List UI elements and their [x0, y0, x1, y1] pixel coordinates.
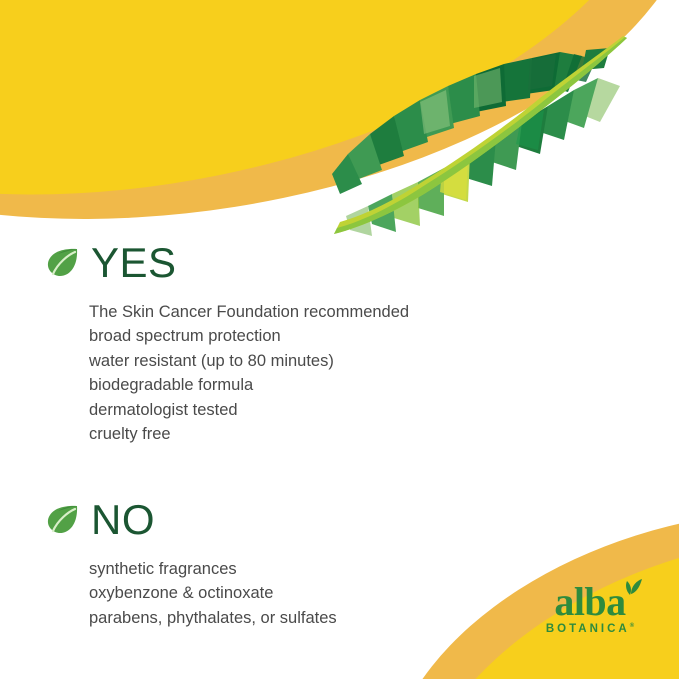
section-yes-header: YES	[46, 240, 409, 286]
section-yes-heading: YES	[91, 242, 177, 284]
tropical-leaf-illustration	[324, 36, 642, 236]
list-item: water resistant (up to 80 minutes)	[89, 349, 409, 373]
section-yes: YES The Skin Cancer Foundation recommend…	[46, 240, 409, 446]
list-item: synthetic fragrances	[89, 557, 337, 581]
section-no: NO synthetic fragrances oxybenzone & oct…	[46, 497, 337, 630]
list-item: broad spectrum protection	[89, 324, 409, 348]
leaf-icon	[46, 246, 80, 280]
logo-wordmark-wrap: alba	[554, 582, 625, 621]
section-no-header: NO	[46, 497, 337, 543]
section-no-list: synthetic fragrances oxybenzone & octino…	[89, 557, 337, 630]
promo-canvas: YES The Skin Cancer Foundation recommend…	[0, 0, 679, 679]
brand-logo: alba BOTANICA®	[530, 582, 650, 644]
list-item: dermatologist tested	[89, 398, 409, 422]
bottom-yellow-blob	[360, 462, 679, 679]
section-yes-list: The Skin Cancer Foundation recommended b…	[89, 300, 409, 446]
list-item: parabens, phythalates, or sulfates	[89, 606, 337, 630]
registered-trademark-icon: ®	[630, 623, 634, 629]
list-item: oxybenzone & octinoxate	[89, 581, 337, 605]
leaf-icon	[46, 503, 80, 537]
logo-wordmark: alba	[554, 579, 625, 624]
logo-subtitle: BOTANICA®	[530, 623, 650, 635]
section-no-heading: NO	[91, 499, 155, 541]
list-item: The Skin Cancer Foundation recommended	[89, 300, 409, 324]
logo-subtitle-text: BOTANICA	[546, 623, 630, 635]
list-item: cruelty free	[89, 422, 409, 446]
leaf-sprout-icon	[619, 577, 643, 597]
list-item: biodegradable formula	[89, 373, 409, 397]
